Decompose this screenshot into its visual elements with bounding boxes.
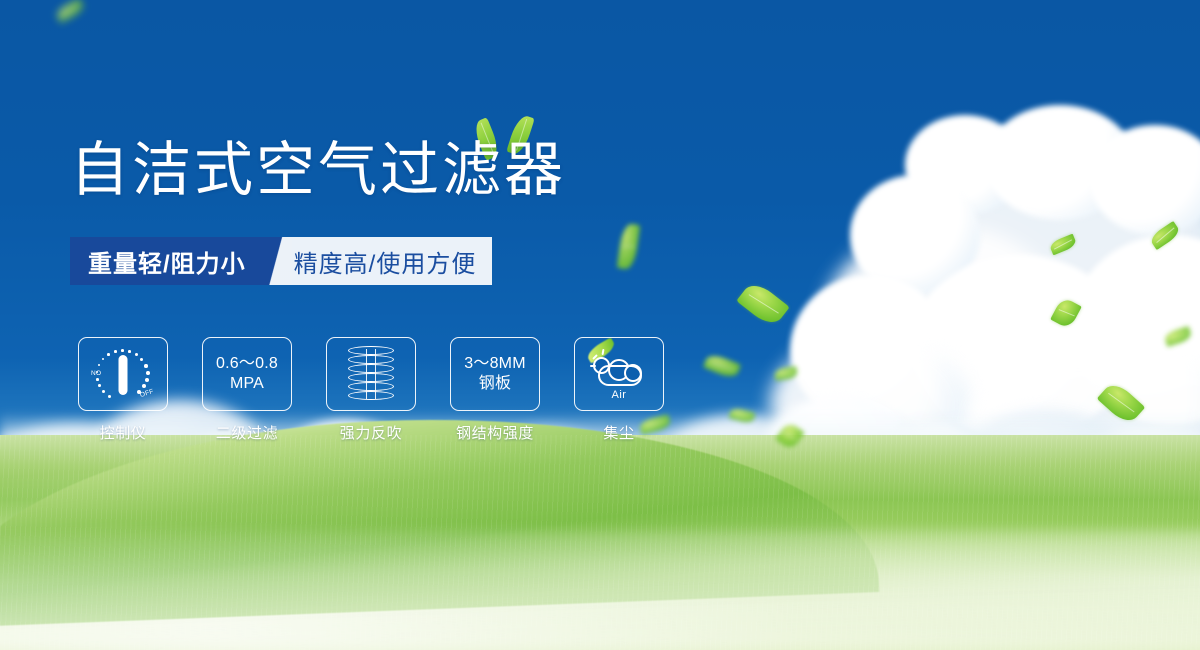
leaf-icon <box>1050 296 1082 329</box>
pressure-value-line1: 0.6～0.8 <box>216 354 278 374</box>
grass-field <box>0 435 1200 650</box>
gauge-label-on: NO <box>91 370 101 377</box>
feature-list: NO OFF 控制仪 0.6～0.8 MPA 二级过滤 <box>78 337 664 443</box>
feature-label: 钢结构强度 <box>456 422 534 443</box>
leaf-icon <box>617 223 640 270</box>
grass-texture <box>0 435 1200 650</box>
leaf-icon <box>1164 326 1193 346</box>
subtitle-wedge-divider <box>262 237 292 285</box>
subtitle-right: 精度高/使用方便 <box>292 237 493 285</box>
subtitle-left: 重量轻/阻力小 <box>70 237 262 285</box>
gauge-dial-icon: NO OFF <box>92 345 154 403</box>
feature-item-pressure[interactable]: 0.6～0.8 MPA 二级过滤 <box>202 337 292 443</box>
leaf-icon <box>736 279 789 329</box>
feature-item-backblow[interactable]: 强力反吹 <box>326 337 416 443</box>
product-banner: 自洁式空气过滤器 重量轻/阻力小 精度高/使用方便 <box>0 0 1200 650</box>
leaf-icon <box>1148 221 1181 250</box>
feature-icon-box <box>326 337 416 411</box>
gauge-needle <box>119 355 128 395</box>
feature-label: 二级过滤 <box>216 422 278 443</box>
pressure-value-line2: MPA <box>230 374 264 394</box>
feature-label: 控制仪 <box>100 422 147 443</box>
feature-item-dust[interactable]: Air 集尘 <box>574 337 664 443</box>
spiral-coil-icon <box>348 346 394 402</box>
feature-icon-box: 3～8MM 钢板 <box>450 337 540 411</box>
feature-item-control-gauge[interactable]: NO OFF 控制仪 <box>78 337 168 443</box>
cloud-air-icon: Air <box>588 350 650 398</box>
feature-label: 强力反吹 <box>340 422 402 443</box>
leaf-icon <box>703 352 741 380</box>
feature-icon-box: 0.6～0.8 MPA <box>202 337 292 411</box>
steel-value-line2: 钢板 <box>479 374 511 394</box>
air-label: Air <box>588 389 650 401</box>
leaf-icon <box>1049 234 1078 256</box>
feature-label: 集尘 <box>603 422 634 443</box>
feature-item-steel[interactable]: 3～8MM 钢板 钢结构强度 <box>450 337 540 443</box>
steel-value-line1: 3～8MM <box>464 354 525 374</box>
subtitle-bar: 重量轻/阻力小 精度高/使用方便 <box>70 237 492 285</box>
leaf-icon <box>774 367 797 381</box>
feature-icon-box: NO OFF <box>78 337 168 411</box>
feature-icon-box: Air <box>574 337 664 411</box>
cloud-body <box>598 365 642 386</box>
page-title: 自洁式空气过滤器 <box>70 141 566 200</box>
gauge-label-off: OFF <box>139 388 154 399</box>
leaf-icon <box>55 0 86 23</box>
